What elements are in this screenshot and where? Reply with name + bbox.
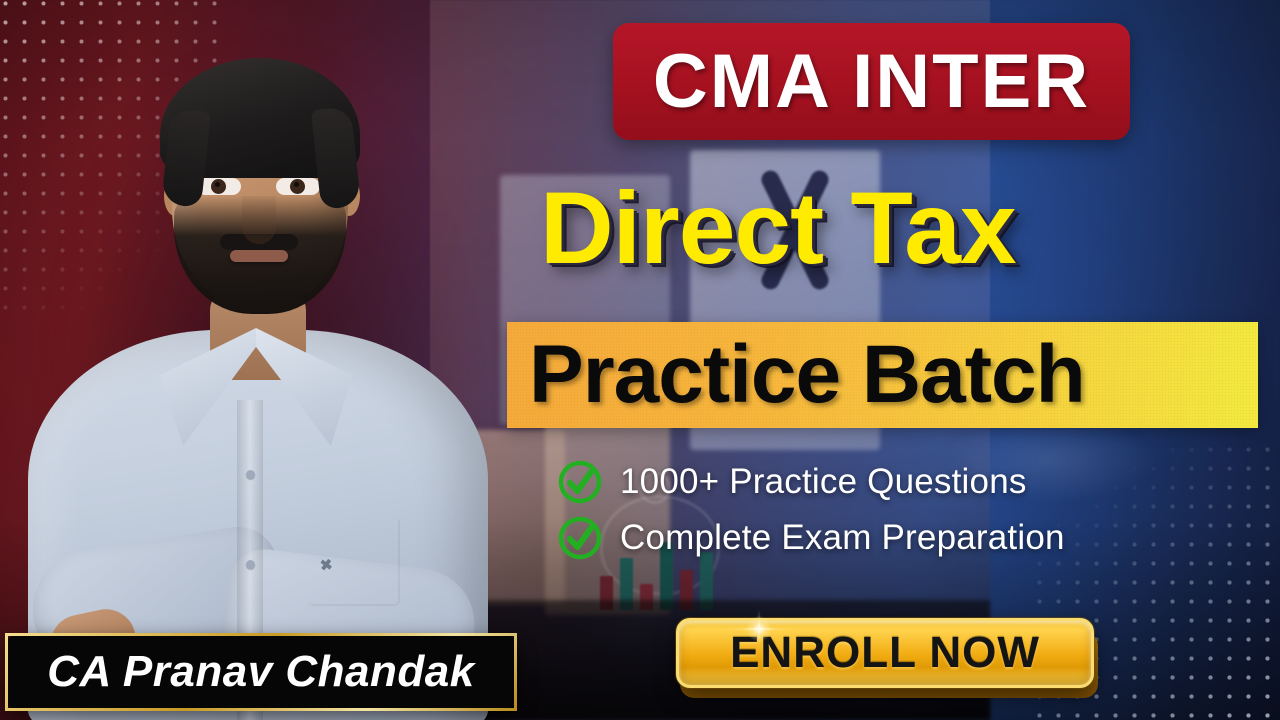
subheadline-label: Practice Batch (507, 334, 1085, 416)
headline-label: Direct Tax (540, 177, 1016, 279)
enroll-now-label: ENROLL NOW (730, 628, 1040, 678)
presenter-name-label: CA Pranav Chandak (47, 647, 474, 697)
promo-banner: ✖ CMA INTER Direct Tax Practice Batch (0, 0, 1280, 720)
enroll-now-button-wrap: ENROLL NOW (676, 618, 1102, 700)
subheadline-band: Practice Batch (507, 322, 1258, 428)
check-circle-icon (556, 458, 604, 506)
feature-label: 1000+ Practice Questions (620, 462, 1027, 502)
course-tag-label: CMA INTER (653, 38, 1090, 125)
list-item: 1000+ Practice Questions (556, 458, 1065, 506)
list-item: Complete Exam Preparation (556, 514, 1065, 562)
presenter-name-badge: CA Pranav Chandak (5, 633, 517, 711)
enroll-now-button[interactable]: ENROLL NOW (676, 618, 1094, 688)
check-circle-icon (556, 514, 604, 562)
feature-list: 1000+ Practice Questions Complete Exam P… (556, 458, 1065, 562)
course-tag-badge: CMA INTER (613, 23, 1130, 140)
feature-label: Complete Exam Preparation (620, 518, 1065, 558)
presenter-photo: ✖ (20, 0, 490, 720)
headline: Direct Tax (540, 168, 1260, 288)
